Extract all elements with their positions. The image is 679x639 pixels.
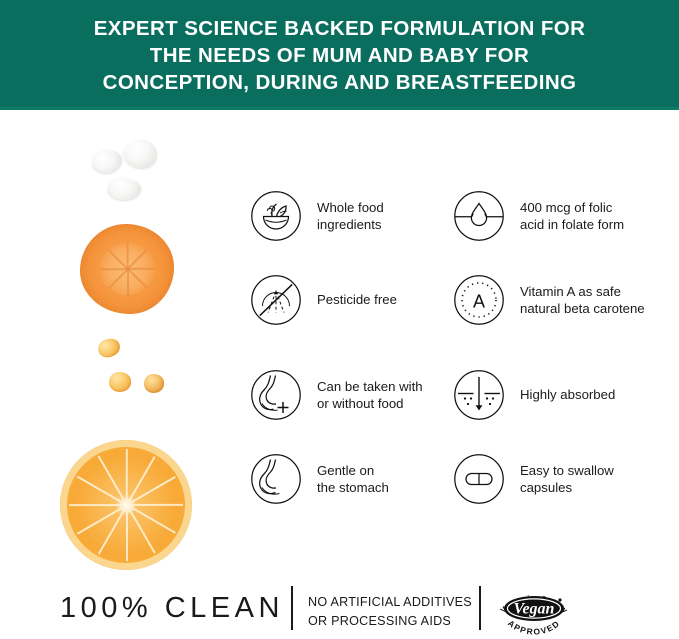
feature-label: Gentle on the stomach — [317, 462, 389, 497]
additives-claim: NO ARTIFICIAL ADDITIVES OR PROCESSING AI… — [308, 593, 472, 631]
feature-easy-swallow: Easy to swallow capsules — [453, 451, 614, 507]
pesticide-free-icon — [250, 274, 302, 326]
whole-food-bowl-icon — [250, 190, 302, 242]
vegan-society-approved-badge: Vegetarian Society Vegan APPROVED — [492, 580, 576, 636]
gentle-stomach-icon — [250, 453, 302, 505]
feature-label: 400 mcg of folic acid in folate form — [520, 199, 624, 234]
feature-pesticide-free: Pesticide free — [250, 272, 397, 328]
clean-claim: 100% CLEAN — [60, 592, 284, 625]
cauliflower-floret-icon — [91, 148, 124, 175]
vitamin-a-icon: A — [453, 274, 505, 326]
feature-label: Whole food ingredients — [317, 199, 384, 234]
header-banner: EXPERT SCIENCE BACKED FORMULATION FOR TH… — [0, 0, 679, 110]
feature-folic-acid: 400 mcg of folic acid in folate form — [453, 188, 624, 244]
stomach-plus-icon — [250, 369, 302, 421]
footer-divider — [291, 586, 293, 630]
feature-list: Whole food ingredients 400 mcg of folic … — [250, 188, 679, 518]
ingredient-photo-column — [52, 120, 242, 560]
feature-label: Easy to swallow capsules — [520, 462, 614, 497]
feature-gentle-stomach: Gentle on the stomach — [250, 451, 389, 507]
feature-with-or-without-food: Can be taken with or without food — [250, 367, 423, 423]
capsule-icon — [453, 453, 505, 505]
feature-whole-food: Whole food ingredients — [250, 188, 384, 244]
feature-label: Highly absorbed — [520, 386, 615, 404]
highly-absorbed-arrow-icon — [453, 369, 505, 421]
feature-label: Pesticide free — [317, 291, 397, 309]
orange-slice-image — [60, 440, 192, 570]
feature-vitamin-a: A Vitamin A as safe natural beta caroten… — [453, 272, 645, 328]
header-underline — [0, 107, 679, 110]
feature-highly-absorbed: Highly absorbed — [453, 367, 615, 423]
product-infographic: EXPERT SCIENCE BACKED FORMULATION FOR TH… — [0, 0, 679, 639]
feature-label: Vitamin A as safe natural beta carotene — [520, 283, 645, 318]
folic-acid-droplet-icon — [453, 190, 505, 242]
cauliflower-floret-icon — [107, 176, 142, 201]
chickpea-kernel-image — [144, 374, 164, 393]
cauliflower-floret-icon — [124, 140, 157, 168]
carrot-slice-image — [80, 224, 174, 314]
footer-divider — [479, 586, 481, 630]
page-title: EXPERT SCIENCE BACKED FORMULATION FOR TH… — [20, 15, 660, 96]
badge-center-text: Vegan — [514, 601, 555, 618]
chickpea-kernel-image — [96, 336, 122, 360]
feature-label: Can be taken with or without food — [317, 378, 423, 413]
svg-text:A: A — [473, 292, 485, 312]
chickpea-kernel-image — [109, 372, 131, 392]
